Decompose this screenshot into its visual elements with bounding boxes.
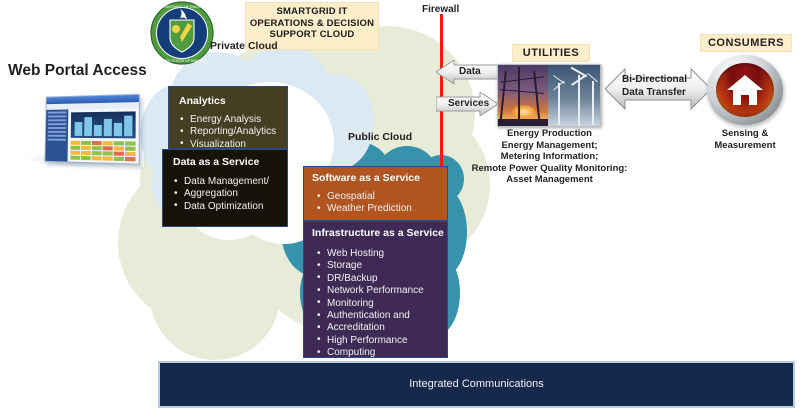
panel-software-as-a-service: Software as a Service Geospatial Weather… (303, 166, 448, 221)
utilities-label: UTILITIES (513, 45, 589, 61)
list-item: Data Management/ (173, 176, 287, 188)
sensing-caption: Sensing & Measurement (700, 128, 790, 151)
list-item: High Performance (316, 335, 447, 347)
list-item: Weather Prediction (316, 203, 447, 215)
caption-line-5: Asset Management (468, 174, 631, 186)
home-icon (725, 70, 765, 110)
private-cloud-label: Private Cloud (210, 40, 278, 52)
title-line-2: OPERATIONS & DECISION (246, 18, 378, 30)
integrated-communications-bar: Integrated Communications (158, 361, 795, 408)
title-line-1: SMARTGRID IT (246, 3, 378, 18)
panel-saas-header: Software as a Service (312, 172, 447, 184)
doe-seal-logo: DEPARTMENT OF ENERGY UNITED STATES OF AM… (150, 1, 214, 65)
portal-chart-panel (71, 111, 136, 138)
integrated-communications-label: Integrated Communications (160, 363, 793, 406)
consumers-label: CONSUMERS (701, 35, 791, 51)
panel-iaas-header: Infrastructure as a Service (312, 227, 447, 239)
consumer-badge (707, 55, 783, 125)
list-item: DR/Backup (316, 273, 447, 285)
panel-infrastructure-as-a-service: Infrastructure as a Service Web Hosting … (303, 221, 448, 358)
utilities-caption: Energy Production Energy Management; Met… (468, 128, 631, 186)
svg-text:UNITED STATES OF AMERICA: UNITED STATES OF AMERICA (158, 59, 207, 63)
svg-text:DEPARTMENT OF ENERGY: DEPARTMENT OF ENERGY (159, 5, 206, 9)
list-item: Authentication and (316, 310, 447, 322)
caption-line-3: Metering Information; (468, 151, 631, 163)
power-lines-sunset-photo (498, 65, 550, 126)
sensing-line-1: Sensing & (700, 128, 790, 140)
list-item-cont: Accreditation (316, 322, 447, 334)
panel-analytics: Analytics Energy Analysis Reporting/Anal… (168, 86, 288, 149)
list-item: Geospatial (316, 191, 447, 203)
caption-line-4: Remote Power Quality Monitoring: (468, 163, 631, 175)
sun-glow (512, 105, 536, 119)
list-item: Reporting/Analytics (179, 126, 287, 138)
list-item: Storage (316, 260, 447, 272)
web-portal-label: Web Portal Access (8, 62, 147, 80)
web-portal-screenshot (22, 93, 144, 173)
diagram-canvas: DEPARTMENT OF ENERGY UNITED STATES OF AM… (0, 0, 800, 413)
public-cloud-label: Public Cloud (348, 131, 412, 143)
list-item-cont: Aggregation (173, 188, 287, 200)
list-item: Network Performance (316, 285, 447, 297)
portal-sidebar (45, 110, 68, 162)
panel-daas-header: Data as a Service (173, 156, 287, 168)
consumers-label-box: CONSUMERS (700, 34, 792, 52)
utilities-label-box: UTILITIES (512, 44, 590, 62)
list-item: Data Optimization (173, 201, 287, 213)
list-item-cont: Computing (316, 347, 447, 359)
list-item: Web Hosting (316, 248, 447, 260)
list-item: Energy Analysis (179, 114, 287, 126)
caption-line-2: Energy Management; (468, 140, 631, 152)
services-arrow-label: Services (448, 98, 489, 109)
wind-turbines-photo (548, 65, 600, 126)
bidirectional-label-line1: Bi-Directional (622, 74, 687, 85)
utilities-photo (497, 64, 601, 127)
panel-data-as-a-service: Data as a Service Data Management/ Aggre… (162, 149, 288, 227)
data-arrow-label: Data (459, 66, 481, 77)
bidirectional-label-line2: Data Transfer (622, 87, 686, 98)
panel-analytics-header: Analytics (179, 95, 287, 107)
portal-data-grid (70, 141, 135, 161)
list-item-cont: Monitoring (316, 298, 447, 310)
caption-line-1: Energy Production (468, 128, 631, 140)
portal-content (68, 108, 139, 163)
browser-window-icon (44, 94, 139, 165)
sensing-line-2: Measurement (700, 140, 790, 152)
